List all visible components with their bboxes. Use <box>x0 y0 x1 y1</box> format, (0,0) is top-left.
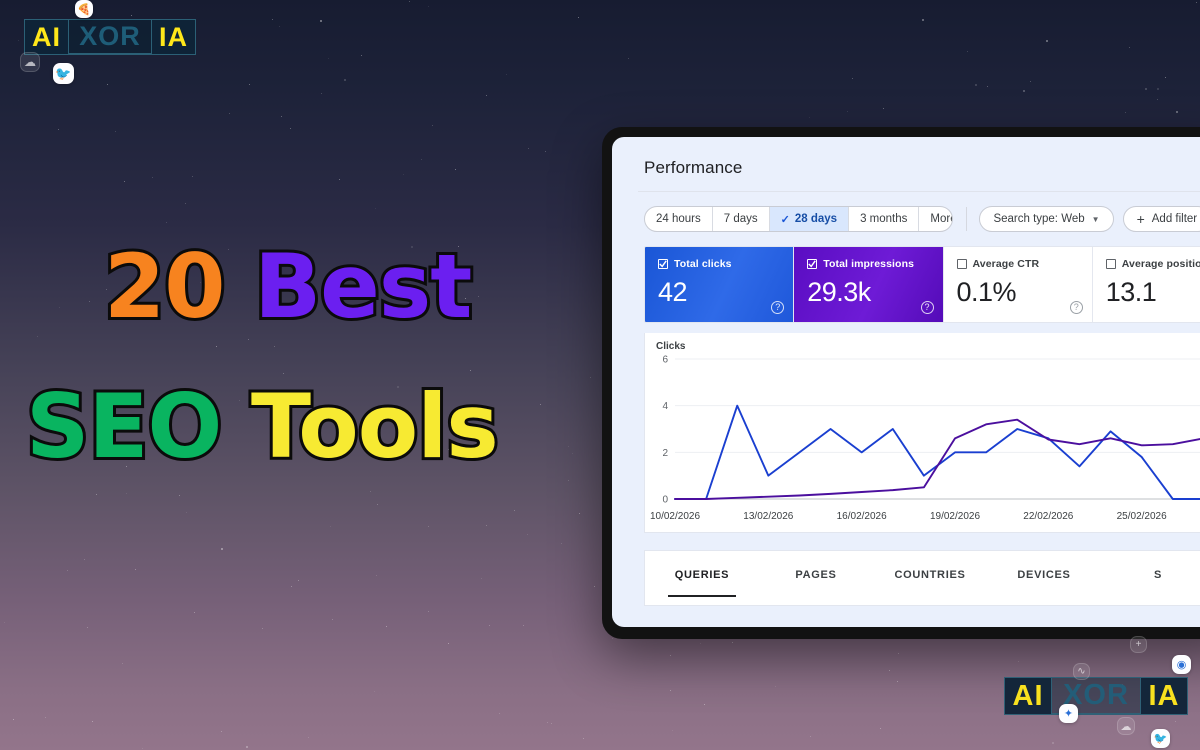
star-dot <box>328 58 329 59</box>
metric-value: 29.3k <box>807 277 929 308</box>
star-dot <box>376 575 377 576</box>
star-dot <box>192 176 193 177</box>
star-dot <box>922 19 924 21</box>
metric-card-average-position[interactable]: Average position 13.1 ? <box>1093 247 1200 322</box>
star-dot <box>987 86 988 87</box>
star-dot <box>330 526 331 527</box>
star-dot <box>1157 88 1159 90</box>
star-dot <box>448 643 449 644</box>
checkbox-checked-icon[interactable] <box>807 259 817 269</box>
star-dot <box>489 625 490 626</box>
tab-search-appearance-clipped[interactable]: S <box>1101 569 1200 597</box>
star-dot <box>135 569 136 570</box>
chip-24-hours[interactable]: 24 hours <box>645 207 713 231</box>
star-dot <box>370 491 371 492</box>
headline-line-1: 20 Best <box>0 243 640 331</box>
star-dot <box>18 40 19 41</box>
tab-pages[interactable]: PAGES <box>759 569 873 597</box>
star-dot <box>670 690 671 691</box>
star-dot <box>122 663 123 664</box>
star-dot <box>126 493 127 494</box>
star-dot <box>84 559 85 560</box>
star-dot <box>290 128 291 129</box>
star-dot <box>889 670 890 671</box>
metric-label-row: Total clicks <box>658 258 780 270</box>
metric-label: Average CTR <box>973 258 1040 270</box>
chart-y-tick: 6 <box>662 355 668 366</box>
headline-line-2: SEO Tools <box>0 383 640 471</box>
star-dot <box>670 655 671 656</box>
chip-28-days-label: 28 days <box>795 213 837 225</box>
star-dot <box>107 84 108 85</box>
star-dot <box>248 339 249 340</box>
checkbox-checked-icon[interactable] <box>658 259 668 269</box>
brand-part-xor: XOR <box>69 19 151 55</box>
star-dot <box>1018 661 1019 662</box>
star-dot <box>221 548 223 550</box>
chart-y-tick: 2 <box>662 448 668 459</box>
star-dot <box>37 336 38 337</box>
star-dot <box>547 722 548 723</box>
star-dot <box>809 117 810 118</box>
star-dot <box>421 159 422 160</box>
page-title: Performance <box>612 137 1200 191</box>
checkbox-unchecked-icon[interactable] <box>957 259 967 269</box>
chip-24-hours-label: 24 hours <box>656 213 701 225</box>
metric-card-total-clicks[interactable]: Total clicks 42 ? <box>645 247 794 322</box>
star-dot <box>58 129 59 130</box>
star-dot <box>262 628 263 629</box>
star-dot <box>732 642 733 643</box>
star-dot <box>115 131 116 132</box>
chart-x-tick: 13/02/2026 <box>743 511 793 522</box>
cloud-sync-icon[interactable]: ☁ <box>1117 717 1135 735</box>
metric-value: 13.1 <box>1106 277 1200 308</box>
help-icon[interactable]: ? <box>1070 301 1083 314</box>
star-dot <box>523 625 524 626</box>
brand-watermark-top: AI XOR IA <box>24 19 196 55</box>
check-icon: ✓ <box>781 213 790 226</box>
device-bezel: Performance 24 hours 7 days ✓ 28 days 3 … <box>602 127 1200 639</box>
star-dot <box>1030 81 1031 82</box>
star-dot <box>775 686 776 687</box>
bird-app-icon-2[interactable]: 🐦 <box>1151 729 1170 748</box>
star-dot <box>578 17 579 18</box>
headline-word-20: 20 <box>104 243 224 331</box>
metric-label-row: Total impressions <box>807 258 929 270</box>
tab-countries[interactable]: COUNTRIES <box>873 569 987 597</box>
dimension-tabs: QUERIES PAGES COUNTRIES DEVICES S <box>644 550 1200 606</box>
metric-label: Average position <box>1122 258 1200 270</box>
tab-label: S <box>1154 569 1162 581</box>
star-dot <box>186 512 187 513</box>
chart-canvas: 024610/02/202613/02/202616/02/202619/02/… <box>645 333 1200 533</box>
star-dot <box>249 84 250 85</box>
headline-word-seo: SEO <box>26 383 221 471</box>
chip-3-months-label: 3 months <box>860 213 907 225</box>
chip-3-months[interactable]: 3 months <box>849 207 919 231</box>
date-range-chip-group[interactable]: 24 hours 7 days ✓ 28 days 3 months More … <box>644 206 953 232</box>
star-dot <box>96 494 97 495</box>
star-dot <box>339 179 340 180</box>
chip-more[interactable]: More ▼ <box>919 207 952 231</box>
star-dot <box>281 116 282 117</box>
chart-x-tick: 25/02/2026 <box>1117 511 1167 522</box>
star-dot <box>1157 99 1158 100</box>
brand-part-ai: AI <box>24 19 69 55</box>
star-dot <box>194 612 195 613</box>
star-dot <box>612 638 613 639</box>
chip-7-days[interactable]: 7 days <box>713 207 770 231</box>
star-dot <box>1023 90 1025 92</box>
star-dot <box>486 525 487 526</box>
metric-value: 0.1% <box>957 277 1079 308</box>
help-icon[interactable]: ? <box>771 301 784 314</box>
star-dot <box>883 108 884 109</box>
star-dot <box>975 84 977 86</box>
chart-series-total-impressions <box>675 420 1200 499</box>
star-dot <box>179 495 180 496</box>
star-dot <box>568 480 569 481</box>
metric-label-row: Average CTR <box>957 258 1079 270</box>
star-dot <box>142 748 143 749</box>
star-dot <box>274 346 275 347</box>
star-dot <box>432 125 433 126</box>
star-dot <box>374 691 375 692</box>
star-dot <box>506 74 507 75</box>
star-dot <box>486 95 487 96</box>
metric-card-total-impressions[interactable]: Total impressions 29.3k ? <box>794 247 943 322</box>
star-dot <box>428 526 429 527</box>
chip-28-days[interactable]: ✓ 28 days <box>770 207 849 231</box>
chip-more-label: More <box>930 213 952 225</box>
chart-y-tick: 4 <box>662 401 668 412</box>
food-app-icon[interactable]: 🍕 <box>75 0 93 18</box>
star-dot <box>1176 111 1178 113</box>
star-dot <box>561 543 562 544</box>
star-dot <box>124 181 125 182</box>
star-dot <box>1145 88 1147 90</box>
add-filter-button[interactable]: + Add filter <box>1123 206 1200 232</box>
star-dot <box>700 643 701 644</box>
sparkle-icon[interactable]: ✦ <box>1059 704 1078 723</box>
star-dot <box>298 580 299 581</box>
tab-queries[interactable]: QUERIES <box>645 569 759 597</box>
star-dot <box>87 627 88 628</box>
star-dot <box>967 51 968 52</box>
star-dot <box>1196 2 1197 3</box>
star-dot <box>152 177 153 178</box>
plus-icon[interactable]: + <box>1130 636 1147 653</box>
star-dot <box>361 55 362 56</box>
chart-x-tick: 19/02/2026 <box>930 511 980 522</box>
star-dot <box>551 723 552 724</box>
star-dot <box>594 586 595 587</box>
star-dot <box>403 174 404 175</box>
cloud-upload-icon[interactable]: ☁ <box>20 52 40 72</box>
headline-word-best: Best <box>254 243 471 331</box>
metric-card-average-ctr[interactable]: Average CTR 0.1% ? <box>944 247 1093 322</box>
star-dot <box>1052 742 1054 744</box>
star-dot <box>428 6 429 7</box>
star-dot <box>428 611 429 612</box>
star-dot <box>409 1 410 2</box>
star-dot <box>583 738 584 739</box>
tab-devices[interactable]: DEVICES <box>987 569 1101 597</box>
toolbar-divider <box>966 207 967 231</box>
metrics-row: Total clicks 42 ? Total impressions 29.3… <box>644 246 1200 323</box>
star-dot <box>221 731 222 732</box>
star-dot <box>131 15 132 16</box>
chart-y-tick: 0 <box>662 495 668 506</box>
tab-label: DEVICES <box>1017 569 1070 581</box>
search-type-label: Search type: Web <box>993 213 1084 225</box>
filter-toolbar: 24 hours 7 days ✓ 28 days 3 months More … <box>612 192 1200 246</box>
star-dot <box>332 619 333 620</box>
star-dot <box>386 626 387 627</box>
star-dot <box>810 736 811 737</box>
metric-value: 42 <box>658 277 780 308</box>
tab-label: PAGES <box>795 569 836 581</box>
metric-label-row: Average position <box>1106 258 1200 270</box>
star-dot <box>672 730 673 731</box>
star-dot <box>470 370 471 371</box>
star-dot <box>579 513 580 514</box>
star-dot <box>880 728 881 729</box>
chevron-down-icon: ▼ <box>1092 215 1100 224</box>
brand-part-ia: IA <box>1140 677 1188 715</box>
star-dot <box>13 719 14 720</box>
star-dot <box>481 578 482 579</box>
star-dot <box>283 373 284 374</box>
brand-part-ai: AI <box>1004 677 1052 715</box>
star-dot <box>897 681 898 682</box>
star-dot <box>272 19 273 20</box>
star-dot <box>375 208 376 209</box>
star-dot <box>45 717 46 718</box>
plus-icon: + <box>1137 212 1145 226</box>
star-dot <box>1165 77 1166 78</box>
brand-watermark-bottom: AI XOR IA <box>1004 677 1188 715</box>
chrome-app-icon[interactable]: ◉ <box>1172 655 1191 674</box>
star-dot <box>455 169 456 170</box>
star-dot <box>67 570 68 571</box>
star-dot <box>704 704 705 705</box>
star-dot <box>528 148 529 149</box>
star-dot <box>1175 721 1176 722</box>
star-dot <box>1046 40 1048 42</box>
bird-app-icon[interactable]: 🐦 <box>53 63 74 84</box>
star-dot <box>92 721 93 722</box>
chart-x-tick: 22/02/2026 <box>1023 511 1073 522</box>
add-filter-label: Add filter <box>1152 213 1197 225</box>
star-dot <box>229 113 230 114</box>
star-dot <box>185 203 186 204</box>
star-dot <box>847 111 848 112</box>
metric-label: Total impressions <box>823 258 914 270</box>
star-dot <box>246 746 248 748</box>
tab-label: QUERIES <box>675 569 729 581</box>
search-type-dropdown[interactable]: Search type: Web ▼ <box>979 206 1113 232</box>
star-dot <box>898 653 899 654</box>
star-dot <box>377 504 378 505</box>
star-dot <box>545 151 546 152</box>
headline-word-tools: Tools <box>251 383 498 471</box>
star-dot <box>279 26 280 27</box>
activity-pulse-icon[interactable]: ∿ <box>1073 663 1090 680</box>
star-dot <box>344 79 346 81</box>
metric-label: Total clicks <box>674 258 732 270</box>
star-dot <box>308 737 309 738</box>
star-dot <box>1125 112 1126 113</box>
star-dot <box>321 93 322 94</box>
star-dot <box>291 586 292 587</box>
checkbox-unchecked-icon[interactable] <box>1106 259 1116 269</box>
tab-label: COUNTRIES <box>894 569 965 581</box>
star-dot <box>590 377 591 378</box>
star-dot <box>4 622 5 623</box>
chip-7-days-label: 7 days <box>724 213 758 225</box>
star-dot <box>852 78 853 79</box>
star-dot <box>1129 47 1130 48</box>
performance-chart[interactable]: Clicks 024610/02/202613/02/202616/02/202… <box>644 333 1200 533</box>
help-icon[interactable]: ? <box>921 301 934 314</box>
chart-x-tick: 10/02/2026 <box>650 511 700 522</box>
star-dot <box>628 58 629 59</box>
chart-x-tick: 16/02/2026 <box>837 511 887 522</box>
star-dot <box>216 346 217 347</box>
search-console-screen: Performance 24 hours 7 days ✓ 28 days 3 … <box>612 137 1200 627</box>
star-dot <box>499 713 500 714</box>
star-dot <box>527 534 528 535</box>
star-dot <box>320 20 322 22</box>
star-dot <box>514 510 515 511</box>
star-dot <box>166 222 167 223</box>
brand-part-ia: IA <box>151 19 196 55</box>
